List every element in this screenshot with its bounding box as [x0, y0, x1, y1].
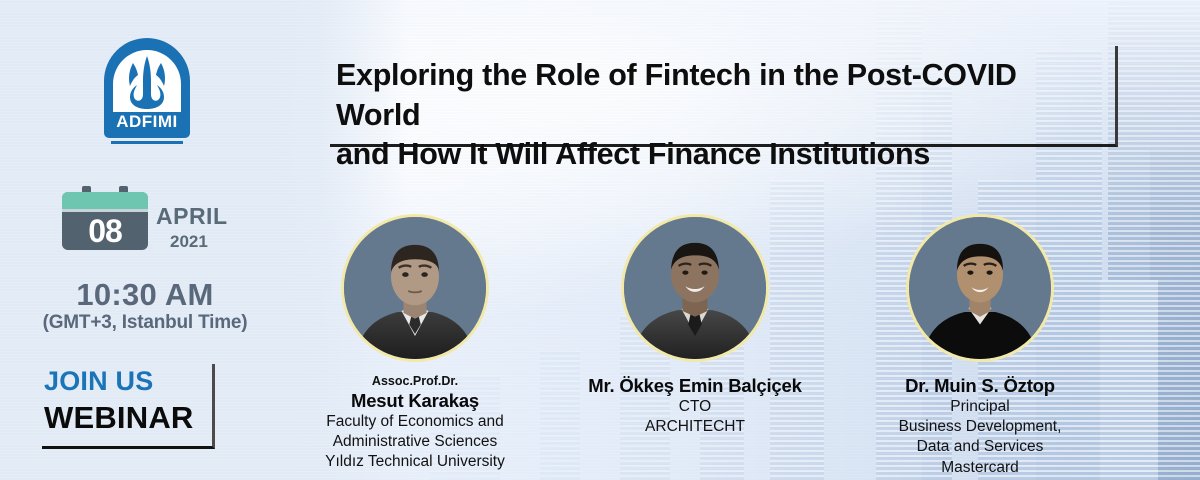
speaker-name: Mesut Karakaş [265, 389, 565, 412]
speaker-card-1: Assoc.Prof.Dr. Mesut Karakaş Faculty of … [265, 214, 565, 472]
speaker-prefix: Assoc.Prof.Dr. [265, 374, 565, 389]
event-timezone: (GMT+3, Istanbul Time) [0, 312, 290, 334]
event-year: 2021 [170, 232, 208, 252]
speaker-details: Faculty of Economics and Administrative … [265, 412, 565, 472]
logo-wordmark: ADFIMI [104, 112, 190, 132]
speaker-details: Principal Business Development, Data and… [830, 397, 1130, 478]
adfimi-logo: ADFIMI [104, 38, 190, 150]
webinar-banner: ADFIMI Exploring the Role of Fintech in … [0, 0, 1200, 480]
speaker-name: Dr. Muin S. Öztop [830, 374, 1130, 397]
page-title: Exploring the Role of Fintech in the Pos… [336, 56, 1107, 175]
speaker-name: Mr. Ökkeş Emin Balçiçek [545, 374, 845, 397]
title-block: Exploring the Role of Fintech in the Pos… [330, 46, 1118, 147]
speaker-details: CTO ARCHITECHT [545, 397, 845, 437]
avatar [341, 214, 489, 362]
logo-underline [111, 141, 183, 144]
avatar [621, 214, 769, 362]
calendar-day: 08 [62, 212, 148, 250]
portrait-photo-icon [909, 217, 1051, 359]
avatar [906, 214, 1054, 362]
event-time: 10:30 AM [0, 277, 290, 313]
calendar-body: 08 [62, 192, 148, 250]
webinar-label: WEBINAR [44, 400, 194, 436]
calendar-icon: 08 [62, 186, 148, 250]
join-us-label: JOIN US [44, 366, 153, 397]
event-month: APRIL [156, 203, 228, 230]
calendar-header-band [62, 192, 148, 209]
join-webinar-block[interactable]: JOIN US WEBINAR [42, 364, 215, 449]
tulip-icon [113, 48, 181, 114]
portrait-photo-icon [624, 217, 766, 359]
speaker-card-2: Mr. Ökkeş Emin Balçiçek CTO ARCHITECHT [545, 214, 845, 437]
speaker-card-3: Dr. Muin S. Öztop Principal Business Dev… [830, 214, 1130, 478]
portrait-photo-icon [344, 217, 486, 359]
